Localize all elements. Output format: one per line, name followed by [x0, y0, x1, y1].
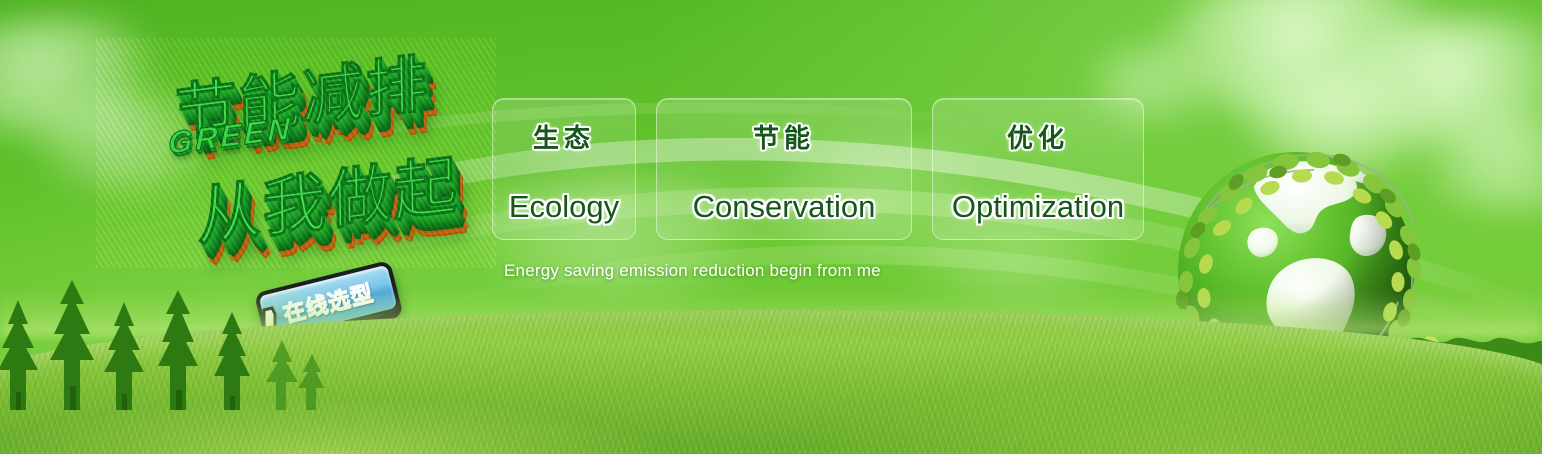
feature-card-en-label: Optimization	[952, 189, 1124, 225]
feature-card-conservation[interactable]: 节能 Conservation	[656, 98, 912, 240]
green-banner: 节能减排 GREEN 从我做起 在线选型 生态 Ecology 节能 Conse…	[0, 0, 1542, 454]
headline-artwork: 节能减排 GREEN 从我做起	[96, 38, 496, 268]
feature-card-ecology[interactable]: 生态 Ecology	[492, 98, 636, 240]
feature-card-optimization[interactable]: 优化 Optimization	[932, 98, 1144, 240]
feature-card-en-label: Conservation	[693, 189, 876, 225]
feature-card-cn-label: 优化	[1007, 118, 1069, 155]
feature-card-en-label: Ecology	[509, 189, 619, 225]
feature-card-cn-label: 节能	[753, 118, 815, 155]
conifer-tree-icon	[0, 274, 324, 410]
banner-tagline: Energy saving emission reduction begin f…	[504, 261, 881, 281]
feature-card-list: 生态 Ecology 节能 Conservation 优化 Optimizati…	[492, 98, 1144, 240]
feature-card-cn-label: 生态	[533, 118, 595, 155]
